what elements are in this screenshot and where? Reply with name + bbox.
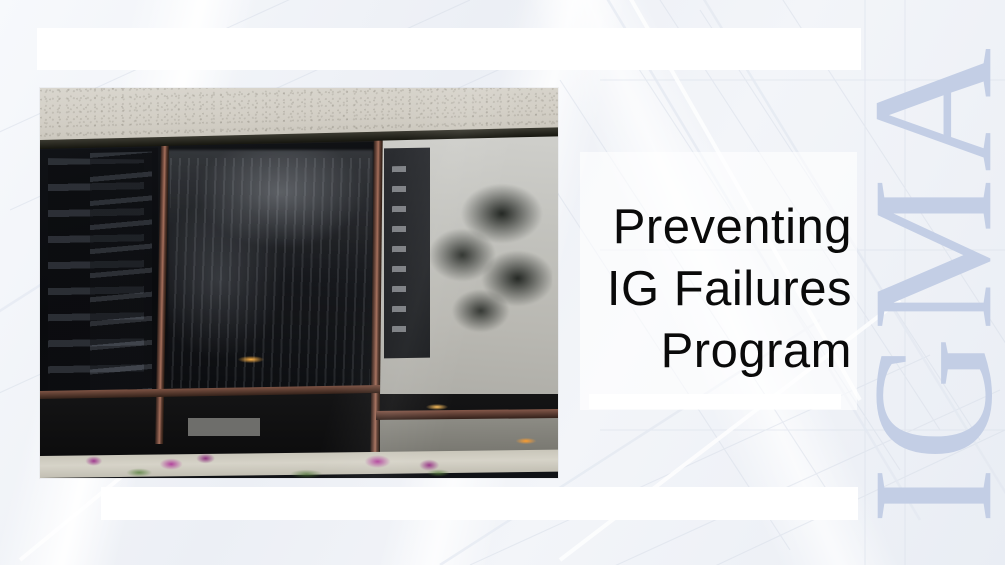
decorative-panel-bottom [101, 487, 858, 520]
slide-title: Preventing IG Failures Program [560, 196, 852, 382]
photo-glass-sheen [40, 88, 558, 478]
slide-photo [40, 88, 558, 478]
decorative-panel-top [37, 28, 861, 70]
title-line-2: IG Failures [560, 258, 852, 320]
title-underline-bar [589, 394, 841, 409]
photo-content [40, 88, 558, 478]
presentation-slide: Preventing IG Failures Program IGMA [0, 0, 1005, 565]
title-line-1: Preventing [560, 196, 852, 258]
title-line-3: Program [560, 320, 852, 382]
